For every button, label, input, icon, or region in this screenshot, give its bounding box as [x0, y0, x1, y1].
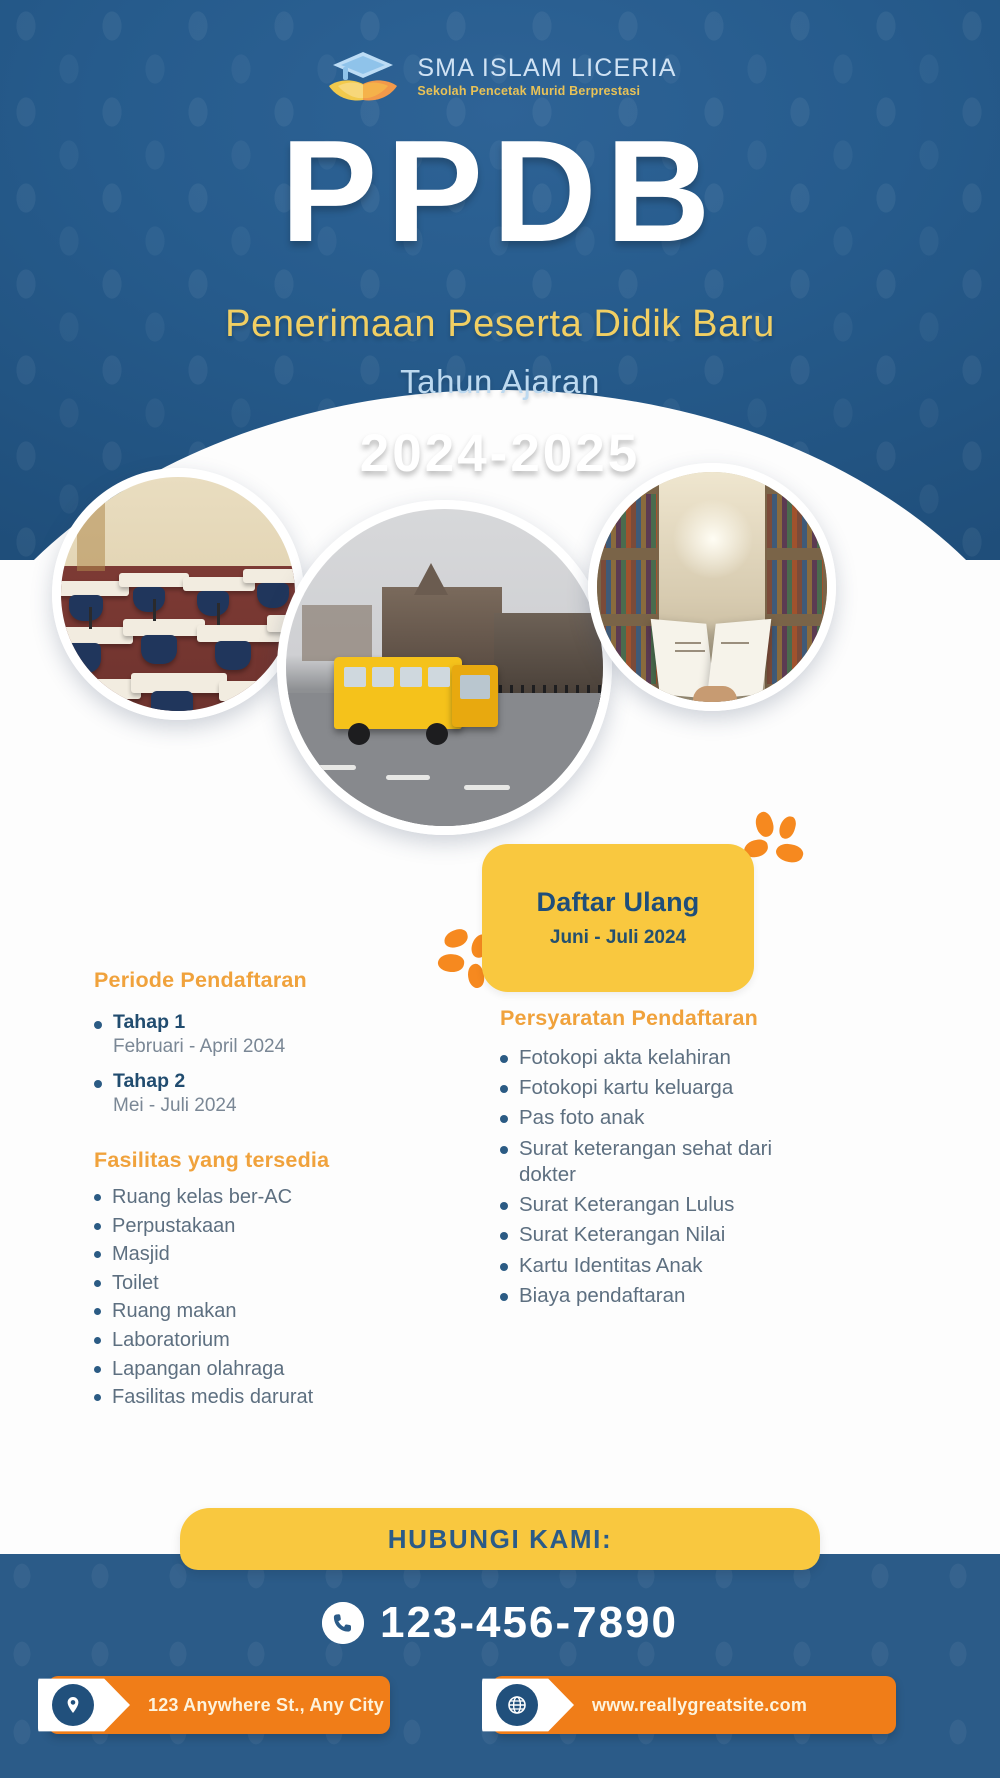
address-tag: [38, 1672, 130, 1738]
phase-dates: Mei - Juli 2024: [113, 1095, 474, 1117]
facility-label: Perpustakaan: [112, 1214, 235, 1240]
bullet-icon: [500, 1085, 508, 1093]
re-registration-badge: Daftar Ulang Juni - Juli 2024: [482, 844, 754, 992]
phone-number: 123-456-7890: [380, 1598, 678, 1648]
phase-label: Tahap 2: [113, 1070, 185, 1093]
facilities-block: Fasilitas yang tersedia Ruang kelas ber-…: [94, 1148, 474, 1414]
bullet-icon: [94, 1337, 101, 1344]
requirement-label: Surat Keterangan Lulus: [519, 1192, 734, 1218]
list-item: Fotokopi kartu keluarga: [500, 1075, 920, 1101]
list-item: Ruang makan: [94, 1299, 474, 1325]
facility-label: Lapangan olahraga: [112, 1357, 284, 1383]
list-item: Ruang kelas ber-AC: [94, 1185, 474, 1211]
bullet-icon: [500, 1293, 508, 1301]
facility-label: Ruang kelas ber-AC: [112, 1185, 292, 1211]
website-pill[interactable]: www.reallygreatsite.com: [492, 1676, 896, 1734]
list-item: Fotokopi akta kelahiran: [500, 1045, 920, 1071]
requirement-label: Surat Keterangan Nilai: [519, 1222, 725, 1248]
requirement-label: Surat keterangan sehat dari dokter: [519, 1136, 810, 1188]
facility-label: Masjid: [112, 1242, 170, 1268]
list-item: Perpustakaan: [94, 1214, 474, 1240]
list-item: Fasilitas medis darurat: [94, 1385, 474, 1411]
bullet-icon: [500, 1055, 508, 1063]
bullet-icon: [500, 1115, 508, 1123]
bullet-icon: [94, 1251, 101, 1258]
phase-label: Tahap 1: [113, 1011, 185, 1034]
website-tag: [482, 1672, 574, 1738]
registration-period-heading: Periode Pendaftaran: [94, 968, 474, 993]
bullet-icon: [94, 1308, 101, 1315]
bullet-icon: [500, 1232, 508, 1240]
requirements-block: Persyaratan Pendaftaran Fotokopi akta ke…: [500, 1006, 920, 1313]
phone-icon: [322, 1602, 364, 1644]
contact-pills: 123 Anywhere St., Any City www.reallygre…: [0, 1668, 1000, 1750]
list-item: Pas foto anak: [500, 1105, 920, 1131]
facilities-list: Ruang kelas ber-AC Perpustakaan Masjid T…: [94, 1185, 474, 1411]
photo-cluster: [0, 0, 1000, 920]
contact-heading-bar: HUBUNGI KAMI:: [180, 1508, 820, 1570]
address-label: 123 Anywhere St., Any City: [148, 1695, 384, 1716]
list-item: Surat Keterangan Lulus: [500, 1192, 920, 1218]
facility-label: Laboratorium: [112, 1328, 230, 1354]
facility-label: Toilet: [112, 1271, 159, 1297]
list-item: Tahap 2 Mei - Juli 2024: [94, 1070, 474, 1117]
bullet-icon: [94, 1080, 102, 1088]
list-item: Biaya pendaftaran: [500, 1283, 920, 1309]
school-bus-photo: [277, 500, 612, 835]
facility-label: Ruang makan: [112, 1299, 237, 1325]
list-item: Surat Keterangan Nilai: [500, 1222, 920, 1248]
phase-dates: Februari - April 2024: [113, 1036, 474, 1058]
bullet-icon: [500, 1202, 508, 1210]
requirement-label: Fotokopi akta kelahiran: [519, 1045, 731, 1071]
registration-period-block: Periode Pendaftaran Tahap 1 Februari - A…: [94, 968, 474, 1117]
contact-heading-label: HUBUNGI KAMI:: [388, 1524, 612, 1555]
list-item: Masjid: [94, 1242, 474, 1268]
map-pin-icon: [52, 1684, 94, 1726]
ppdb-poster: SMA ISLAM LICERIA Sekolah Pencetak Murid…: [0, 0, 1000, 1778]
list-item: Lapangan olahraga: [94, 1357, 474, 1383]
requirement-label: Pas foto anak: [519, 1105, 644, 1131]
bullet-icon: [94, 1366, 101, 1373]
requirement-label: Kartu Identitas Anak: [519, 1253, 702, 1279]
registration-phase-list: Tahap 1 Februari - April 2024 Tahap 2 Me…: [94, 1011, 474, 1117]
website-label: www.reallygreatsite.com: [592, 1695, 807, 1716]
bullet-icon: [94, 1280, 101, 1287]
bullet-icon: [500, 1146, 508, 1154]
list-item: Toilet: [94, 1271, 474, 1297]
bullet-icon: [94, 1021, 102, 1029]
requirement-label: Fotokopi kartu keluarga: [519, 1075, 733, 1101]
list-item: Tahap 1 Februari - April 2024: [94, 1011, 474, 1058]
bullet-icon: [94, 1223, 101, 1230]
list-item: Kartu Identitas Anak: [500, 1253, 920, 1279]
bullet-icon: [94, 1394, 101, 1401]
phone-row[interactable]: 123-456-7890: [0, 1598, 1000, 1648]
re-registration-title: Daftar Ulang: [537, 887, 700, 918]
facilities-heading: Fasilitas yang tersedia: [94, 1148, 474, 1173]
requirement-label: Biaya pendaftaran: [519, 1283, 685, 1309]
requirements-list: Fotokopi akta kelahiran Fotokopi kartu k…: [500, 1045, 920, 1309]
facility-label: Fasilitas medis darurat: [112, 1385, 313, 1411]
bullet-icon: [500, 1263, 508, 1271]
bullet-icon: [94, 1194, 101, 1201]
list-item: Laboratorium: [94, 1328, 474, 1354]
requirements-heading: Persyaratan Pendaftaran: [500, 1006, 920, 1031]
re-registration-dates: Juni - Juli 2024: [550, 927, 686, 949]
library-photo: [588, 463, 836, 711]
address-pill[interactable]: 123 Anywhere St., Any City: [48, 1676, 390, 1734]
list-item: Surat keterangan sehat dari dokter: [500, 1136, 810, 1188]
globe-icon: [496, 1684, 538, 1726]
classroom-photo: [52, 468, 304, 720]
